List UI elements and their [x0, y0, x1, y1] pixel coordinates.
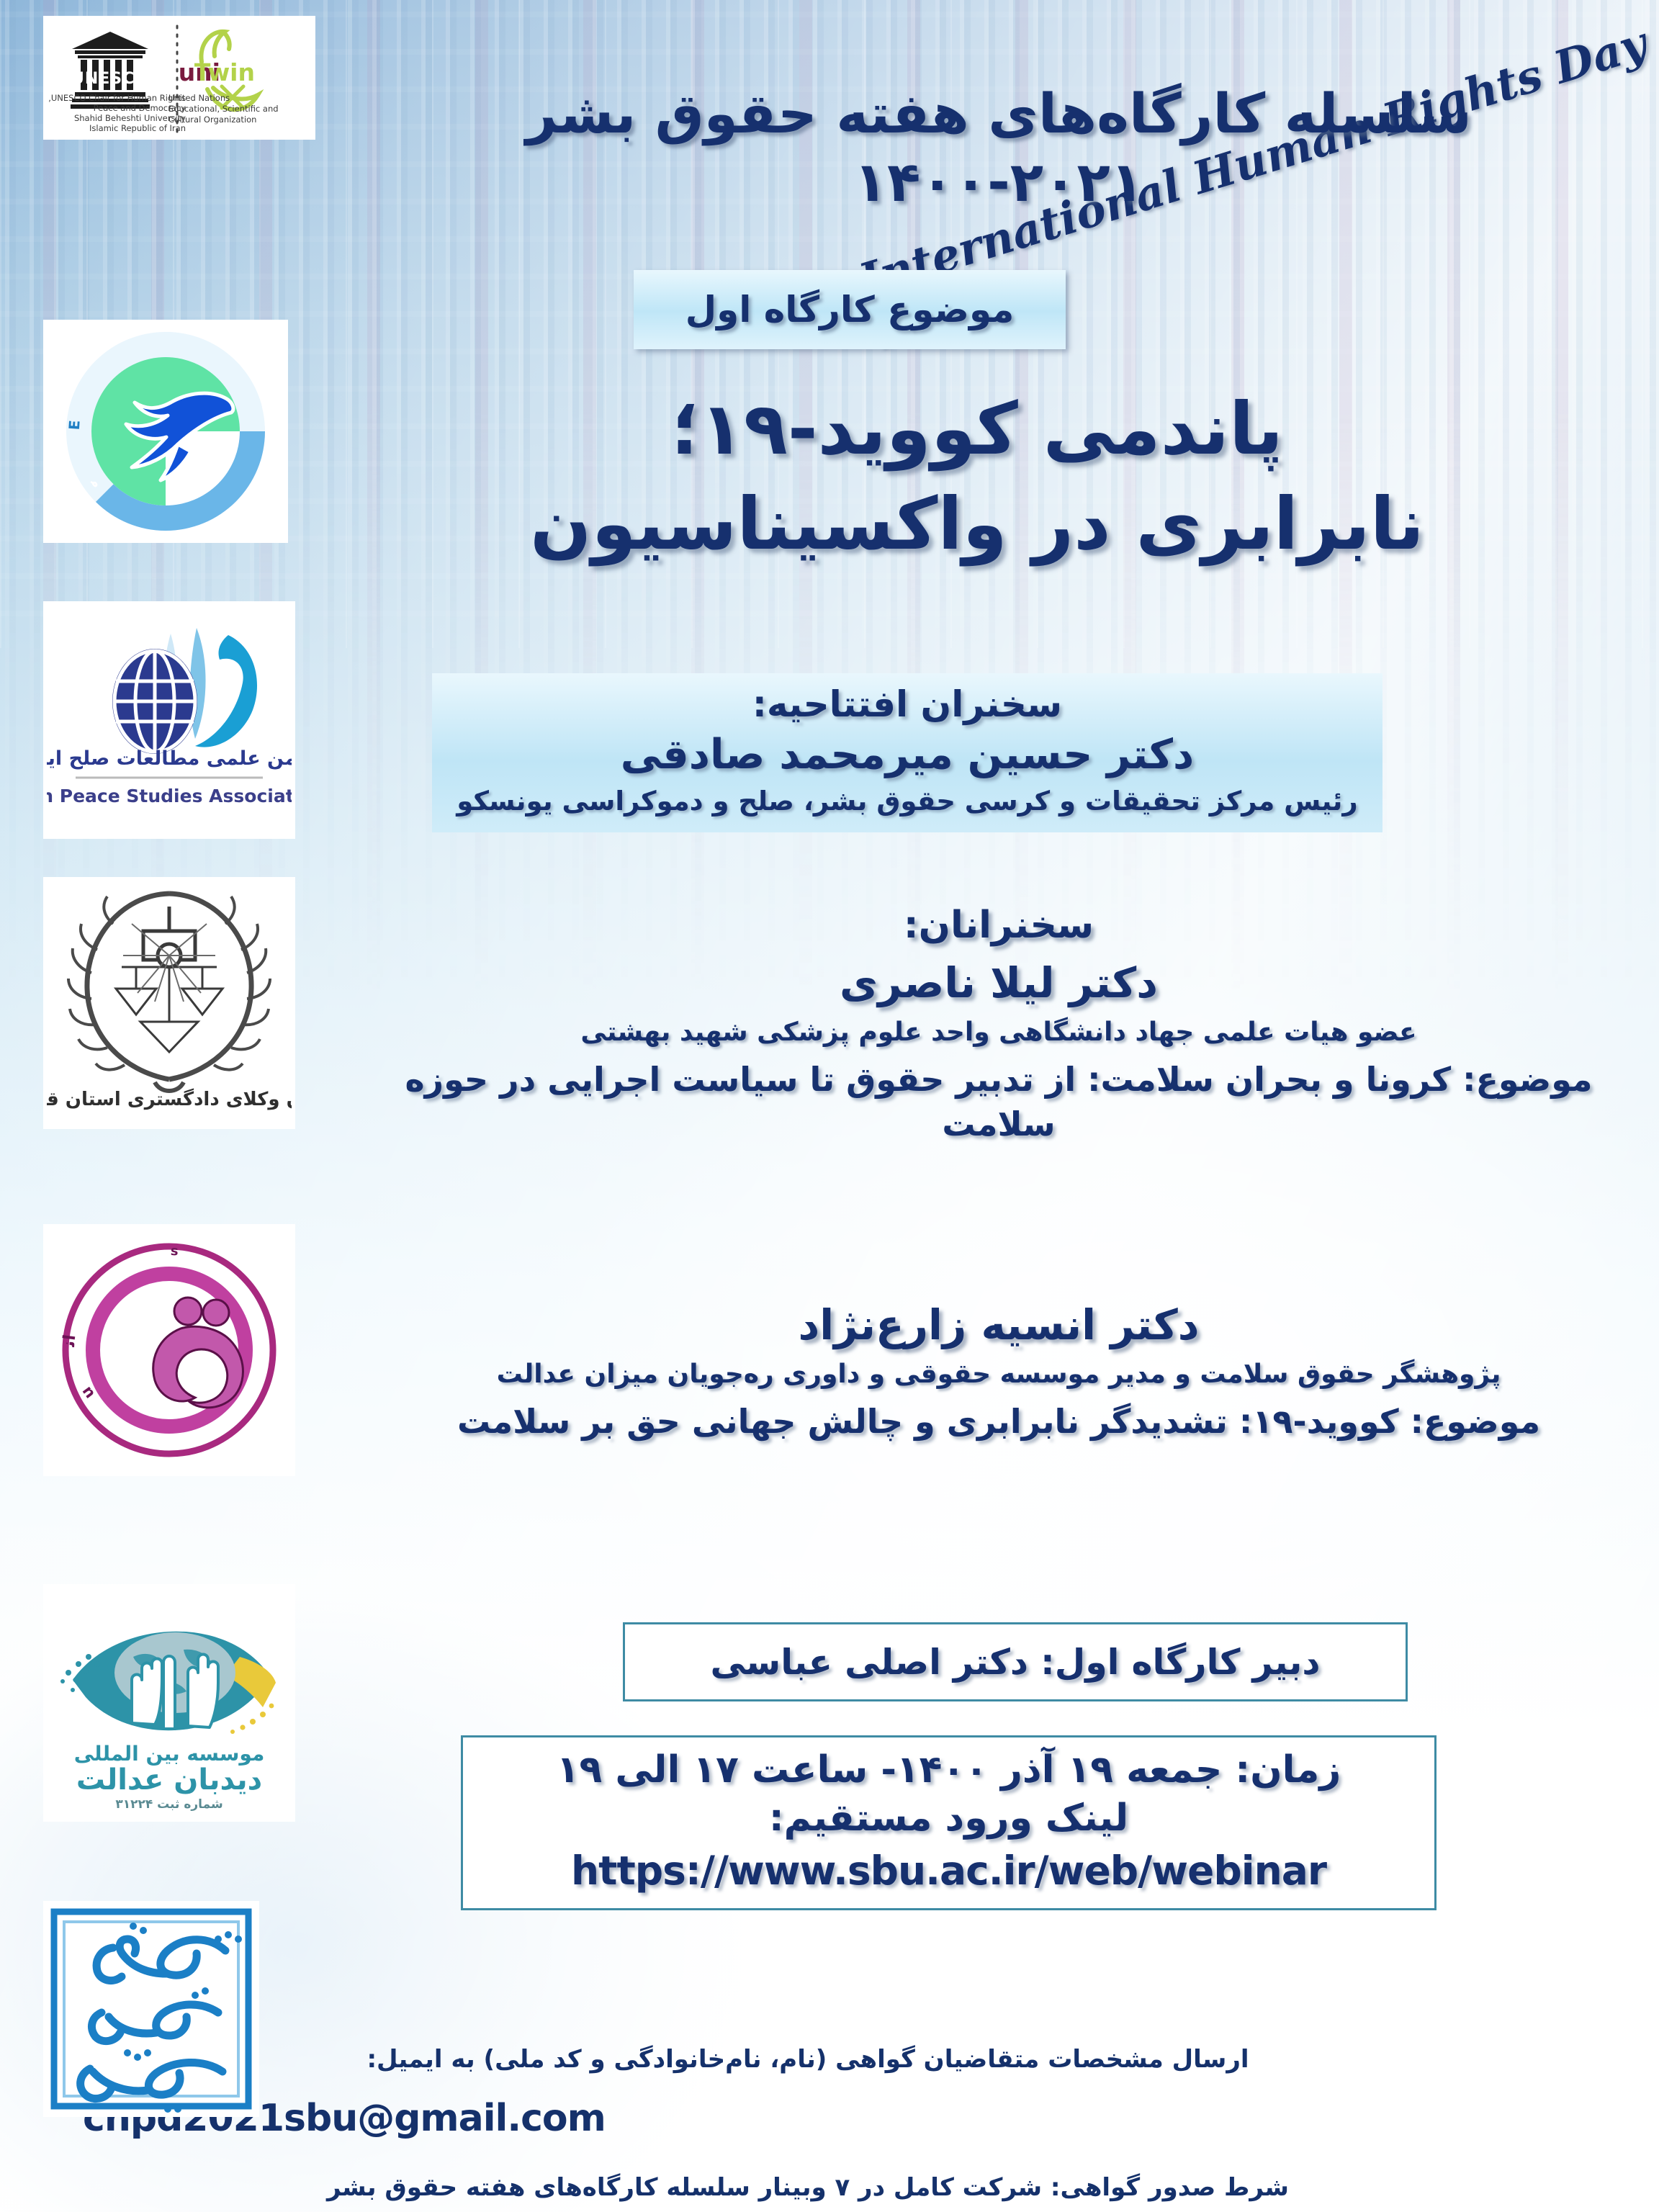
schedule-link-label: لینک ورود مستقیم:: [482, 1794, 1416, 1843]
svg-text:Shahid Beheshti University: Shahid Beheshti University: [74, 113, 186, 123]
speaker-2-subject: موضوع: کووید-۱۹: تشدیدگر نابرابری و چالش…: [338, 1399, 1659, 1444]
logo-justice-watch-institute: موسسه بین المللی دیدبان عدالت شماره ثبت …: [43, 1584, 295, 1822]
opening-speaker-label: سخنران افتتاحیه:: [449, 683, 1365, 725]
workshop-topic-banner: موضوع کارگاه اول: [634, 270, 1066, 349]
svg-text:Peace and Democracy: Peace and Democracy: [94, 103, 186, 113]
unesco-unitwin-icon: UNESCO uni Twin United Nations: [43, 16, 315, 140]
logo-shahid-beheshti-university: [43, 1901, 259, 2117]
main-title-line2: نابرابری در واکسیناسیون: [338, 477, 1616, 572]
logo-center-peace-environment: AND ENVIRONMENT CENTER FOR PEACE مرکز صل…: [43, 320, 288, 543]
series-title-line1: سلسله کارگاه‌های هفته حقوق بشر: [338, 79, 1659, 148]
svg-text:UNESCO Chair for Human Rights,: UNESCO Chair for Human Rights,: [48, 93, 186, 103]
schedule-datetime: زمان: جمعه ۱۹ آذر ۱۴۰۰- ساعت ۱۷ الی ۱۹: [482, 1746, 1416, 1794]
poster-canvas: UNESCO uni Twin United Nations: [0, 0, 1659, 2212]
speaker-1-name: دکتر لیلا ناصری: [338, 958, 1659, 1007]
logo-qazvin-bar-association: کانون وکلای دادگستری استان قزوین: [43, 877, 295, 1129]
svg-text:Islamic Republic of Iran: Islamic Republic of Iran: [89, 123, 186, 133]
opening-speaker-role: رئیس مرکز تحقیقات و کرسی حقوق بشر، صلح و…: [449, 786, 1365, 817]
svg-text:Twin: Twin: [194, 58, 255, 86]
opening-speaker-box: سخنران افتتاحیه: دکتر حسین میرمحمد صادقی…: [432, 673, 1382, 832]
speaker-2-name: دکتر انسیه زارع‌نژاد: [338, 1300, 1659, 1349]
svg-text:موسسه بین المللی: موسسه بین المللی: [74, 1742, 265, 1766]
qazvin-bar-association-icon: کانون وکلای دادگستری استان قزوین: [47, 881, 292, 1125]
series-title: سلسله کارگاه‌های هفته حقوق بشر ۱۴۰۰-۲۰۲۱: [338, 79, 1659, 216]
iranian-association-of-womens-studies-icon: انجمن ایرانی مطالعات زنان s Studies Iran…: [47, 1228, 292, 1473]
svg-text:شماره ثبت ۳۱۲۲۴: شماره ثبت ۳۱۲۲۴: [115, 1797, 222, 1812]
schedule-and-link-box: زمان: جمعه ۱۹ آذر ۱۴۰۰- ساعت ۱۷ الی ۱۹ ل…: [461, 1735, 1437, 1910]
logo-iranian-women-studies: انجمن ایرانی مطالعات زنان s Studies Iran…: [43, 1224, 295, 1476]
logo-iran-peace-studies: انجمن علمی مطالعات صلح ایران Iran Peace …: [43, 601, 295, 839]
logo-unesco-unitwin: UNESCO uni Twin United Nations: [43, 16, 315, 140]
speaker-block-2: دکتر انسیه زارع‌نژاد پژوهشگر حقوق سلامت …: [338, 1289, 1659, 1444]
series-title-line2: ۱۴۰۰-۲۰۲۱: [338, 148, 1659, 216]
main-title-line1: پاندمی کووید-۱۹؛: [338, 382, 1616, 477]
poster-content: International Human Rights Day 2021 سلسل…: [338, 0, 1659, 2212]
shahid-beheshti-university-icon: [47, 1905, 256, 2113]
sponsor-logo-rail: UNESCO uni Twin United Nations: [0, 0, 338, 2212]
svg-text:Iran Peace Studies Association: Iran Peace Studies Association: [47, 786, 292, 806]
svg-text:UNESCO: UNESCO: [71, 70, 149, 88]
opening-speaker-name: دکتر حسین میرمحمد صادقی: [449, 731, 1365, 778]
webinar-link[interactable]: https://www.sbu.ac.ir/web/webinar: [482, 1848, 1416, 1894]
workshop-main-title: پاندمی کووید-۱۹؛ نابرابری در واکسیناسیون: [338, 382, 1616, 572]
justice-watch-institute-icon: موسسه بین المللی دیدبان عدالت شماره ثبت …: [47, 1588, 292, 1818]
center-for-peace-and-environment-icon: AND ENVIRONMENT CENTER FOR PEACE مرکز صل…: [47, 323, 284, 539]
speaker-1-affiliation: عضو هیات علمی جهاد دانشگاهی واحد علوم پز…: [338, 1017, 1659, 1047]
svg-text:کانون وکلای دادگستری استان قزو: کانون وکلای دادگستری استان قزوین: [47, 1088, 292, 1110]
speaker-block-1: سخنرانان: دکتر لیلا ناصری عضو هیات علمی …: [338, 904, 1659, 1146]
svg-text:انجمن علمی مطالعات صلح ایران: انجمن علمی مطالعات صلح ایران: [47, 747, 292, 770]
speaker-1-subject: موضوع: کرونا و بحران سلامت: از تدبیر حقو…: [338, 1057, 1659, 1146]
workshop-secretary-box: دبیر کارگاه اول: دکتر اصلی عباسی: [623, 1622, 1408, 1701]
iran-peace-studies-association-icon: انجمن علمی مطالعات صلح ایران Iran Peace …: [47, 605, 292, 835]
speakers-label: سخنرانان:: [338, 904, 1659, 947]
svg-text:دیدبان عدالت: دیدبان عدالت: [76, 1763, 262, 1797]
speaker-2-affiliation: پژوهشگر حقوق سلامت و مدیر موسسه حقوقی و …: [338, 1359, 1659, 1389]
